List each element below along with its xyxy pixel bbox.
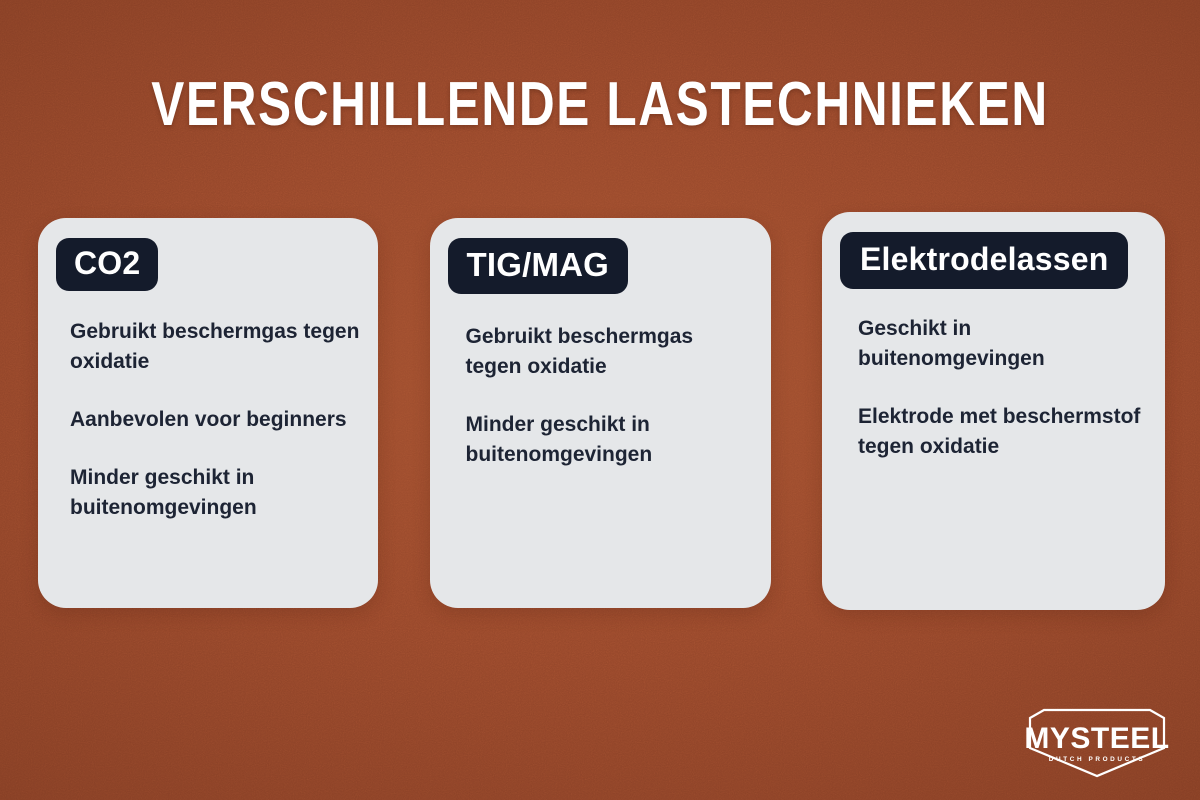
list-item: Minder geschikt in buitenomgevingen (466, 410, 753, 470)
mysteel-shield-icon: MYSTEEL DUTCH PRODUCTS (1022, 704, 1172, 782)
list-item: Geschikt in buitenomgevingen (858, 314, 1147, 374)
list-item: Elektrode met beschermstof tegen oxidati… (858, 402, 1147, 462)
list-item: Gebruikt beschermgas tegen oxidatie (70, 317, 360, 377)
technique-card-row: CO2 Gebruikt beschermgas tegen oxidatie … (38, 212, 1165, 612)
poster-canvas: VERSCHILLENDE LASTECHNIEKEN CO2 Gebruikt… (0, 0, 1200, 800)
card-badge-elektrodelassen: Elektrodelassen (840, 232, 1128, 289)
list-item: Gebruikt beschermgas tegen oxidatie (466, 322, 753, 382)
technique-card-elektrodelassen: Elektrodelassen Geschikt in buitenomgevi… (822, 212, 1165, 610)
brand-logo: MYSTEEL DUTCH PRODUCTS (1022, 704, 1172, 782)
card-badge-tig-mag: TIG/MAG (448, 238, 629, 294)
list-item: Aanbevolen voor beginners (70, 405, 360, 435)
feature-list-elektrodelassen: Geschikt in buitenomgevingen Elektrode m… (840, 314, 1147, 462)
logo-tagline: DUTCH PRODUCTS (1049, 756, 1145, 763)
list-item: Minder geschikt in buitenomgevingen (70, 463, 360, 523)
page-title: VERSCHILLENDE LASTECHNIEKEN (120, 74, 1080, 136)
feature-list-co2: Gebruikt beschermgas tegen oxidatie Aanb… (56, 317, 360, 523)
technique-card-tig-mag: TIG/MAG Gebruikt beschermgas tegen oxida… (430, 218, 771, 608)
card-badge-co2: CO2 (56, 238, 158, 291)
logo-wordmark: MYSTEEL (1024, 722, 1169, 755)
technique-card-co2: CO2 Gebruikt beschermgas tegen oxidatie … (38, 218, 378, 608)
feature-list-tig-mag: Gebruikt beschermgas tegen oxidatie Mind… (448, 322, 753, 470)
